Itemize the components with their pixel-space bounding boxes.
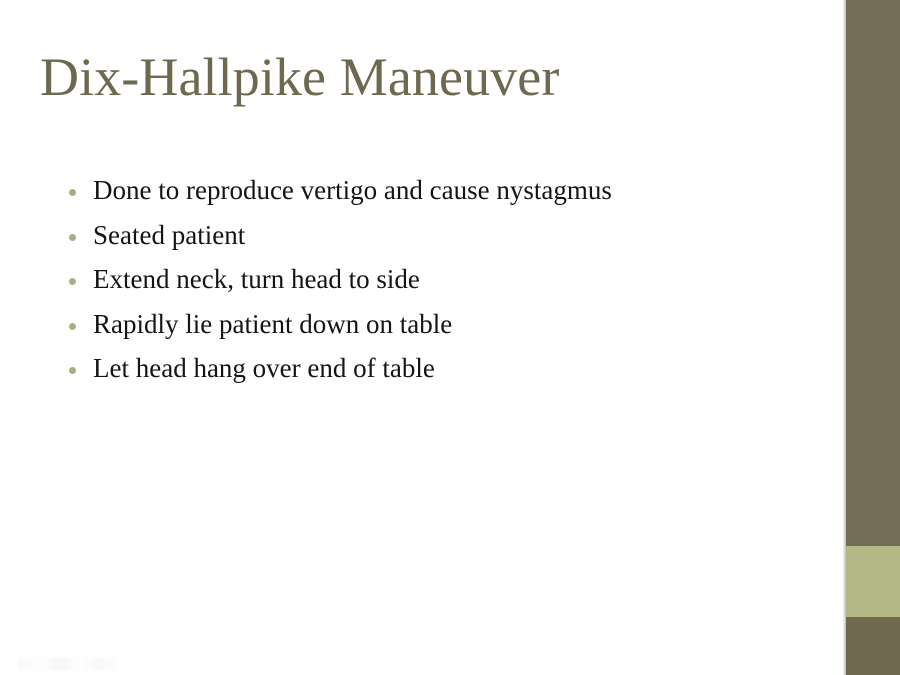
list-item: Done to reproduce vertigo and cause nyst… xyxy=(66,175,826,220)
bullet-dot-icon xyxy=(69,323,76,330)
bullet-dot-icon xyxy=(69,234,76,241)
bullet-list: Done to reproduce vertigo and cause nyst… xyxy=(66,175,826,398)
bullet-dot-icon xyxy=(69,189,76,196)
list-item-label: Seated patient xyxy=(93,220,245,251)
page-title: Dix-Hallpike Maneuver xyxy=(40,49,559,106)
sidebar-segment-accent xyxy=(846,546,900,617)
list-item-label: Done to reproduce vertigo and cause nyst… xyxy=(93,175,612,206)
list-item-label: Extend neck, turn head to side xyxy=(93,264,420,295)
sidebar-segment-top xyxy=(846,0,900,546)
bullet-dot-icon xyxy=(69,367,76,374)
list-item: Rapidly lie patient down on table xyxy=(66,309,826,354)
list-item: Extend neck, turn head to side xyxy=(66,264,826,309)
scan-artifact xyxy=(18,657,126,671)
list-item-label: Let head hang over end of table xyxy=(93,353,435,384)
bullet-dot-icon xyxy=(69,278,76,285)
presentation-slide: Dix-Hallpike Maneuver Done to reproduce … xyxy=(0,0,900,675)
sidebar-segment-bottom xyxy=(846,617,900,675)
list-item: Seated patient xyxy=(66,220,826,265)
list-item: Let head hang over end of table xyxy=(66,353,826,398)
list-item-label: Rapidly lie patient down on table xyxy=(93,309,452,340)
slide-side-decoration xyxy=(843,0,900,675)
